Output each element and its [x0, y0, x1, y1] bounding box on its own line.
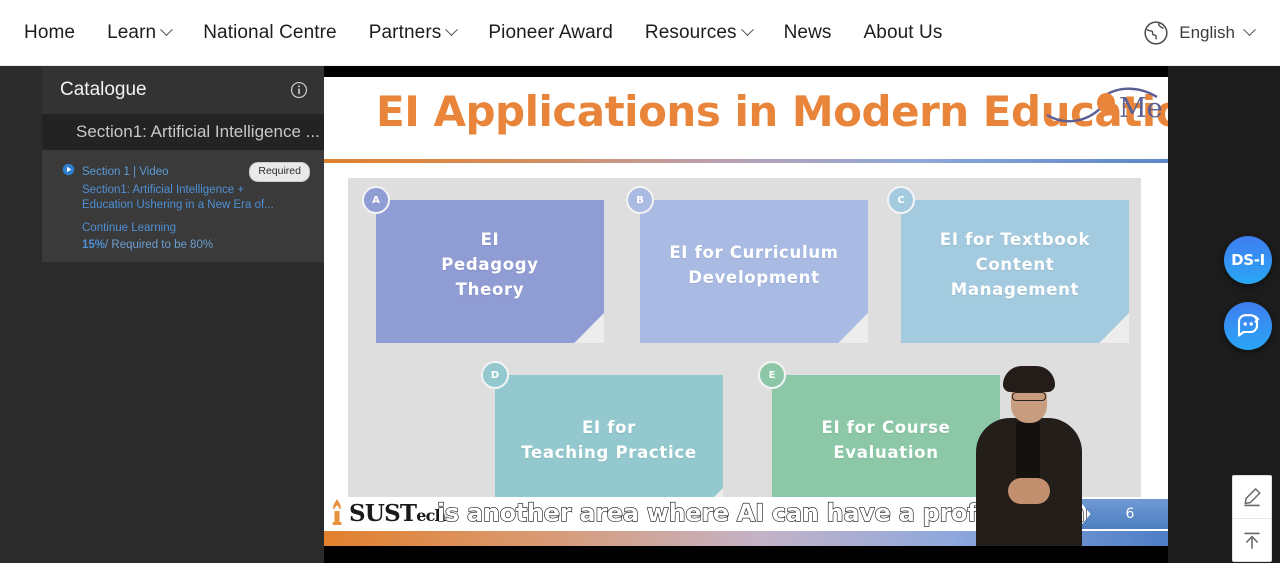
box-marker-a: A [362, 186, 390, 214]
lesson-row: Section 1 | Video Required Section1: Art… [62, 162, 310, 253]
nav-links: Home Learn National Centre Partners Pion… [0, 22, 958, 44]
nav-item-pioneer-award[interactable]: Pioneer Award [472, 22, 629, 44]
catalogue-header: Catalogue [42, 66, 324, 114]
nav-item-partners[interactable]: Partners [353, 22, 473, 44]
assistant-dsi-button[interactable]: DS-I [1224, 236, 1272, 284]
diagram-box-a: EI Pedagogy TheoryA [376, 200, 604, 343]
slide-header: EI Applications in Modern Education Med [324, 77, 1168, 159]
nav-item-about-us[interactable]: About Us [848, 22, 959, 44]
box-marker-b: B [626, 186, 654, 214]
chevron-down-icon [741, 23, 754, 36]
back-to-top-button[interactable] [1233, 519, 1271, 561]
progress-note: / Required to be 80% [105, 239, 213, 251]
nav-item-news[interactable]: News [768, 22, 848, 44]
sustech-logo: SUSTech [327, 498, 445, 528]
box-label: EI for Textbook Content Management [901, 200, 1129, 343]
assistant-dsi-label: DS-I [1231, 251, 1265, 269]
box-label: EI Pedagogy Theory [376, 200, 604, 343]
chevron-down-icon [445, 23, 458, 36]
nav-item-label: News [784, 22, 832, 44]
nav-item-learn[interactable]: Learn [91, 22, 187, 44]
top-navigation-bar: Home Learn National Centre Partners Pion… [0, 0, 1280, 66]
presenter-hair [1003, 366, 1055, 392]
back-to-top-icon [1241, 529, 1263, 551]
chevron-down-icon [160, 23, 173, 36]
left-rail [0, 66, 42, 563]
presenter-shirt [1016, 422, 1040, 482]
nav-item-home[interactable]: Home [8, 22, 91, 44]
catalogue-title: Catalogue [60, 79, 147, 101]
video-player-stage[interactable]: EI Applications in Modern Education Med … [324, 66, 1168, 563]
sidebar-empty-area [42, 263, 324, 563]
nav-item-label: Resources [645, 22, 737, 44]
status-badge: Required [249, 162, 310, 182]
presenter-glasses [1012, 392, 1046, 401]
box-marker-c: C [887, 186, 915, 214]
play-circle-icon[interactable] [62, 163, 75, 176]
language-label: English [1179, 23, 1235, 43]
sustech-prefix: SUST [349, 500, 416, 527]
continue-learning-link[interactable]: Continue Learning [82, 221, 310, 236]
progress-text: 15%/ Required to be 80% [82, 238, 310, 253]
sidebar-lesson-item[interactable]: Section 1 | Video Required Section1: Art… [42, 150, 324, 263]
feedback-edit-button[interactable] [1233, 476, 1271, 518]
nav-item-label: Pioneer Award [488, 22, 613, 44]
nav-item-label: Home [24, 22, 75, 44]
side-action-stack [1232, 475, 1272, 562]
lesson-type-label: Section 1 | Video [82, 165, 169, 180]
presenter-hands [1008, 478, 1050, 504]
box-marker-d: D [481, 361, 509, 389]
nav-item-label: Partners [369, 22, 442, 44]
nav-item-label: About Us [864, 22, 943, 44]
globe-icon [1143, 20, 1169, 46]
nav-item-label: Learn [107, 22, 156, 44]
box-marker-e: E [758, 361, 786, 389]
sidebar-section-header[interactable]: Section1: Artificial Intelligence ... [42, 114, 324, 150]
med-logo: Med [1045, 81, 1163, 133]
divider [42, 262, 324, 263]
nav-item-national-centre[interactable]: National Centre [187, 22, 353, 44]
svg-text:Med: Med [1119, 93, 1163, 124]
presenter-video-overlay [970, 366, 1088, 546]
sustech-wordmark: SUSTech [349, 500, 445, 527]
info-icon[interactable] [290, 81, 308, 99]
chevron-down-icon [1243, 23, 1256, 36]
diagram-box-b: EI for Curriculum DevelopmentB [640, 200, 868, 343]
lesson-description: Section1: Artificial Intelligence + Educ… [82, 183, 278, 213]
chat-bubble-icon [1234, 312, 1262, 340]
progress-value: 15% [82, 239, 105, 251]
box-label: EI for Curriculum Development [640, 200, 868, 343]
chat-assistant-button[interactable] [1224, 302, 1272, 350]
language-switcher[interactable]: English [1143, 20, 1280, 46]
lesson-header-line: Section 1 | Video Required [82, 162, 310, 182]
header-rule [324, 159, 1168, 163]
lesson-main: Section 1 | Video Required Section1: Art… [82, 162, 310, 253]
diagram-box-c: EI for Textbook Content ManagementC [901, 200, 1129, 343]
nav-item-label: National Centre [203, 22, 337, 44]
nav-item-resources[interactable]: Resources [629, 22, 768, 44]
pencil-icon [1241, 486, 1263, 508]
presentation-slide: EI Applications in Modern Education Med … [324, 77, 1168, 546]
course-catalogue-sidebar: Catalogue Section1: Artificial Intellige… [42, 66, 324, 563]
page-root: Home Learn National Centre Partners Pion… [0, 0, 1280, 563]
torch-icon [327, 498, 347, 528]
slide-page-number: 6 [1078, 499, 1168, 529]
